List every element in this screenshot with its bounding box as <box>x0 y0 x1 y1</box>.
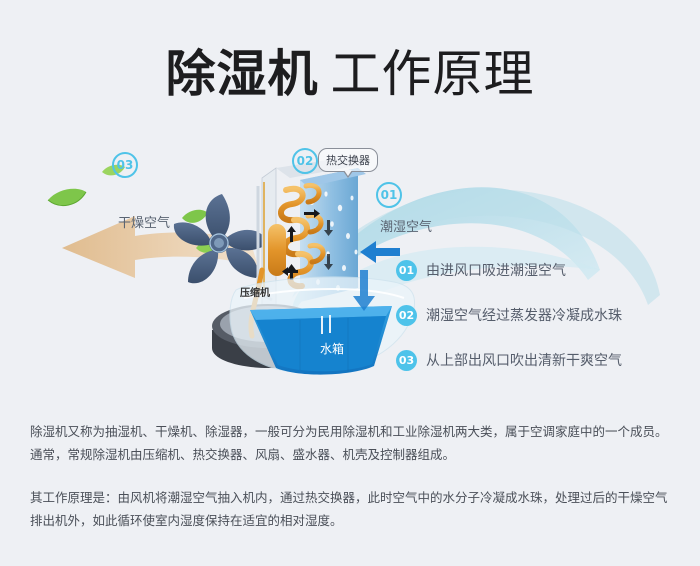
paragraph-2: 其工作原理是：由风机将潮湿空气抽入机内，通过热交换器，此时空气中的水分子冷凝成水… <box>30 486 675 532</box>
list-item: 02 潮湿空气经过蒸发器冷凝成水珠 <box>396 301 696 329</box>
page-title-bold: 除湿机 <box>166 45 319 103</box>
description-section: 除湿机又称为抽湿机、干燥机、除湿器，一般可分为民用除湿机和工业除湿机两大类，属于… <box>30 420 675 552</box>
step-list: 01 由进风口吸进潮湿空气 02 潮湿空气经过蒸发器冷凝成水珠 03 从上部出风… <box>396 256 696 391</box>
humid-air-label: 潮湿空气 <box>380 216 432 235</box>
compressor-cylinder <box>268 224 286 276</box>
compressor-label: 压缩机 <box>240 284 270 299</box>
paragraph-1: 除湿机又称为抽湿机、干燥机、除湿器，一般可分为民用除湿机和工业除湿机两大类，属于… <box>30 420 675 466</box>
water-tank-label: 水箱 <box>320 340 344 357</box>
list-item: 01 由进风口吸进潮湿空气 <box>396 256 696 284</box>
step-badge-02: 02 <box>396 305 417 326</box>
heat-exchanger-badge: 02 <box>292 148 318 174</box>
dry-air-badge: 03 <box>112 152 138 178</box>
step-badge-01: 01 <box>396 260 417 281</box>
step-text-03: 从上部出风口吹出清新干爽空气 <box>426 350 622 370</box>
leaf-icon <box>182 210 208 223</box>
infographic-page: 除湿机工作原理 <box>0 0 700 566</box>
leaf-icon <box>48 189 86 206</box>
step-text-01: 由进风口吸进潮湿空气 <box>426 260 566 280</box>
fan-icon <box>174 194 268 283</box>
heat-exchanger-callout: 热交换器 <box>318 148 378 172</box>
page-title: 除湿机工作原理 <box>0 34 700 106</box>
humid-air-badge: 01 <box>376 182 402 208</box>
list-item: 03 从上部出风口吹出清新干爽空气 <box>396 346 696 374</box>
dry-air-label: 干燥空气 <box>118 212 170 231</box>
step-badge-03: 03 <box>396 350 417 371</box>
step-text-02: 潮湿空气经过蒸发器冷凝成水珠 <box>426 305 622 325</box>
page-title-light: 工作原理 <box>331 45 535 103</box>
